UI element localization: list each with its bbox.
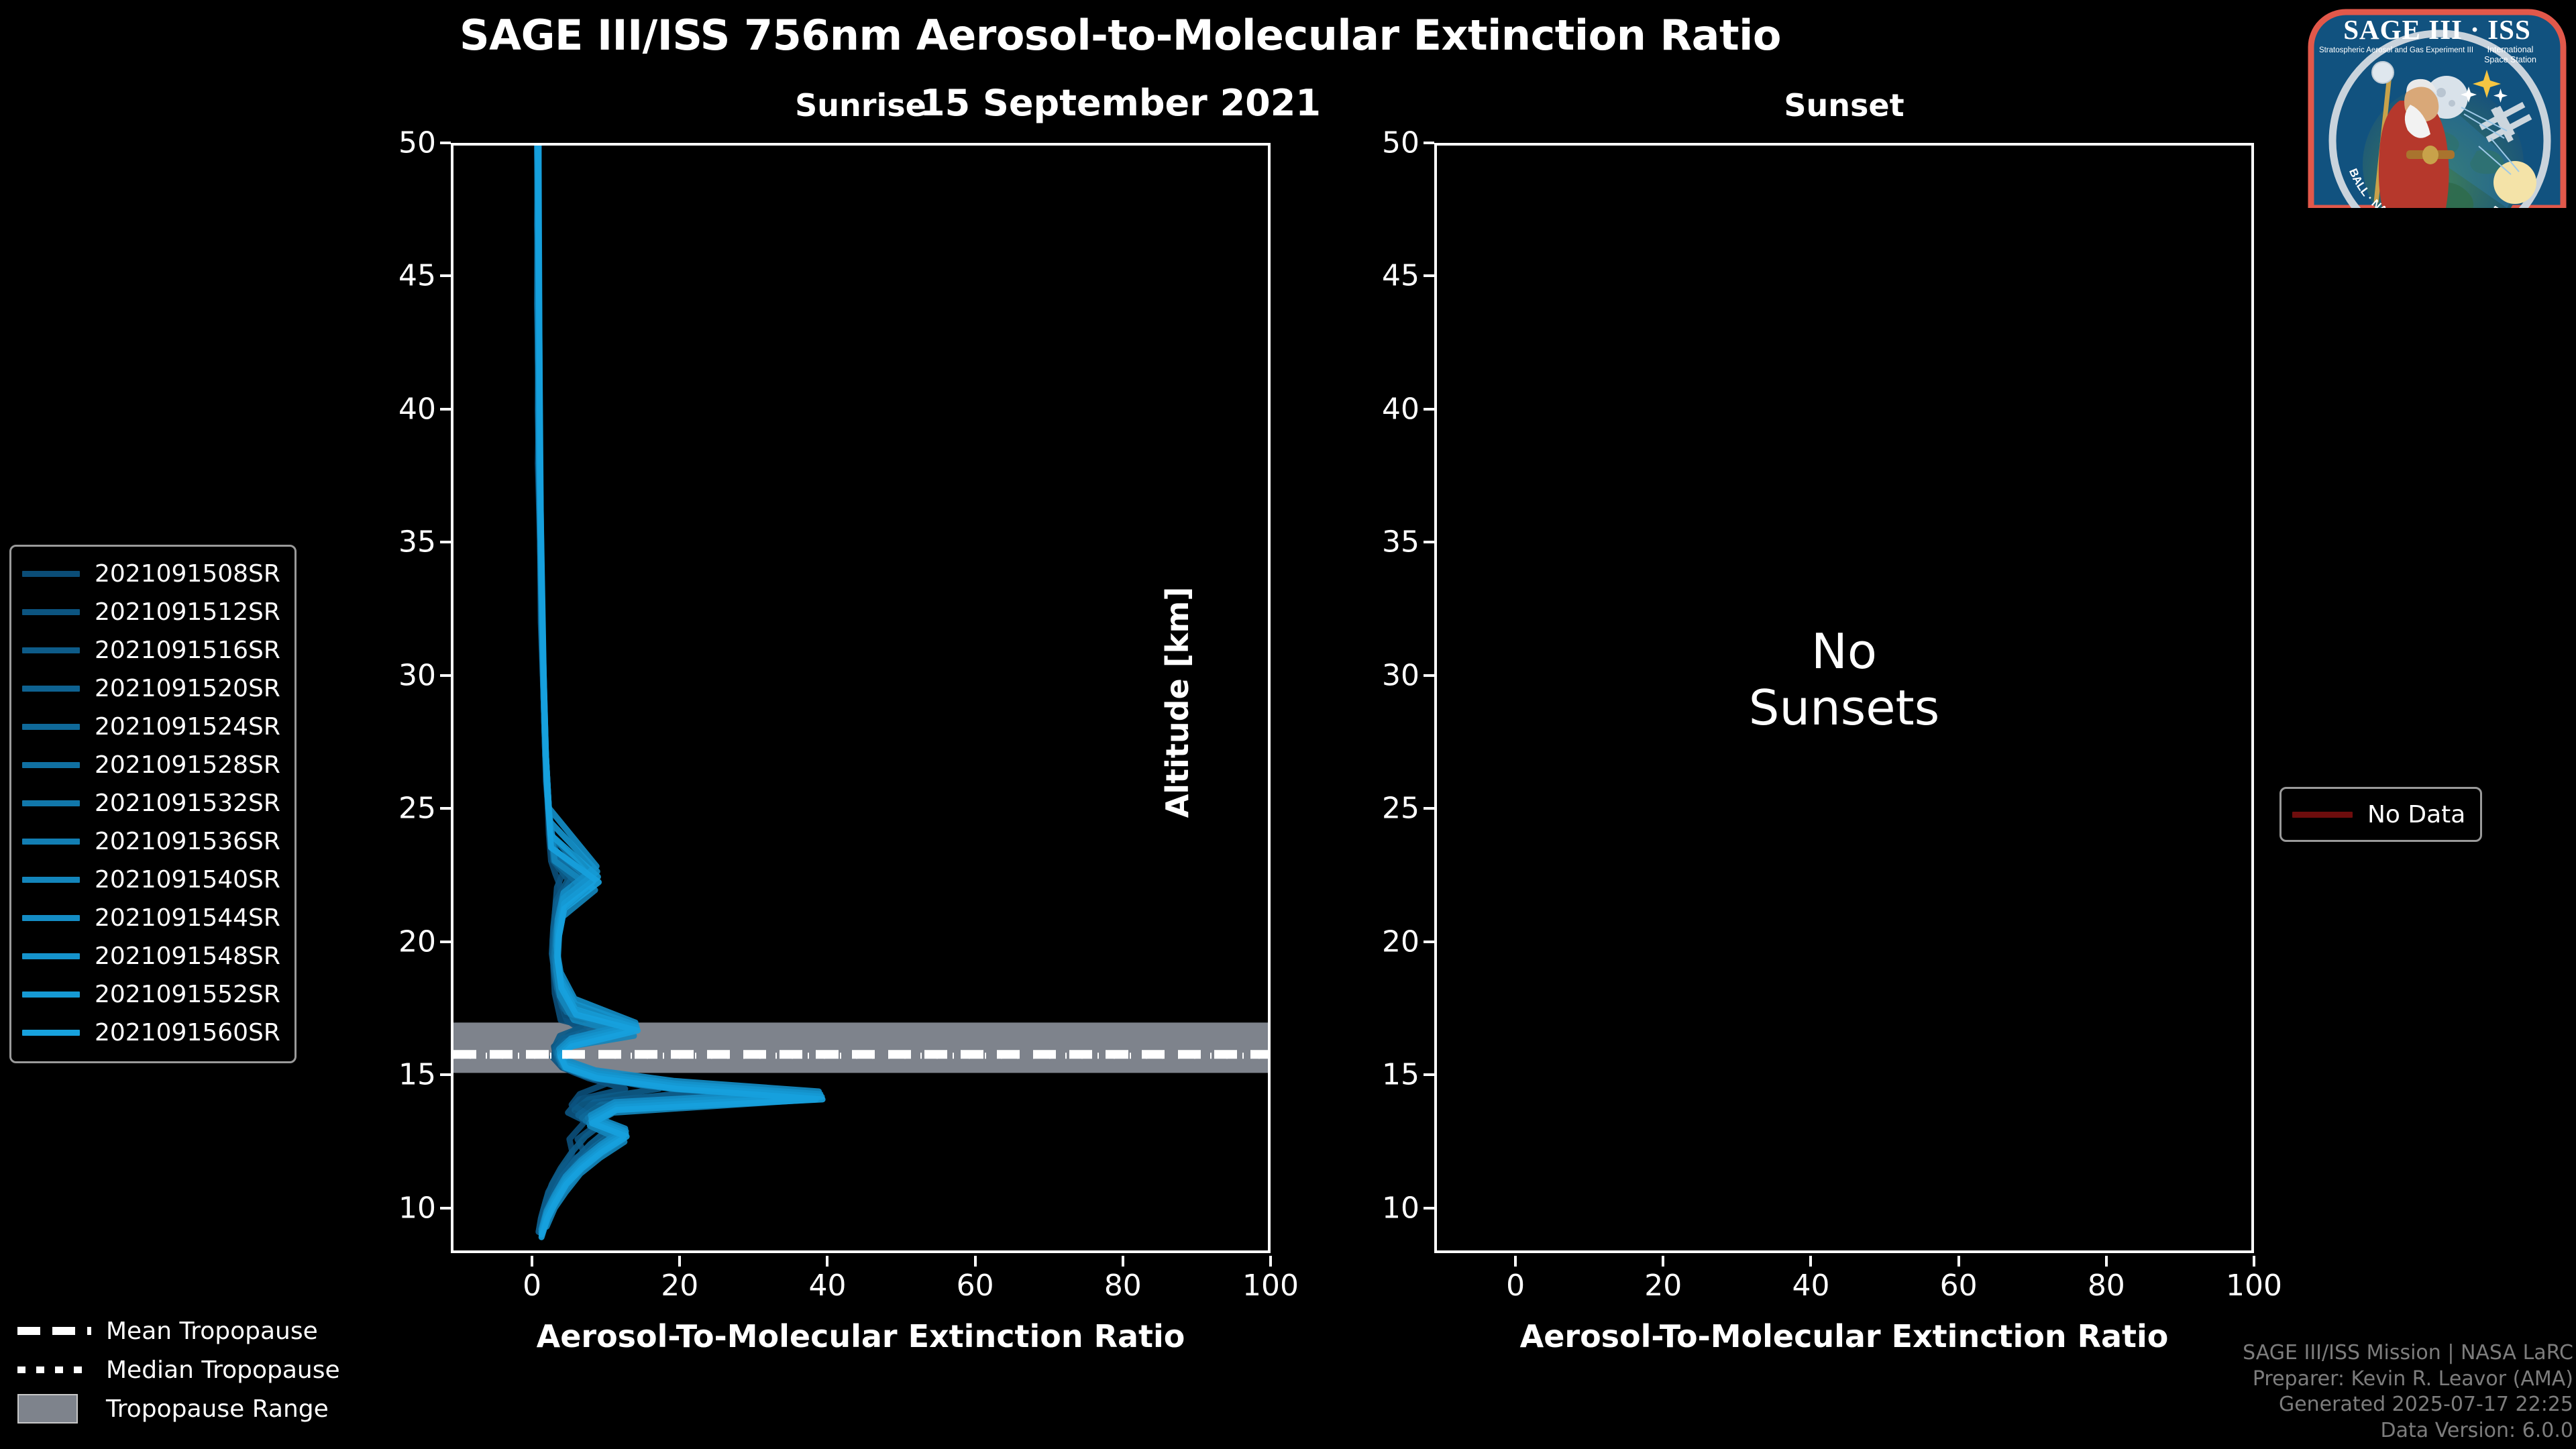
series-legend[interactable]: 2021091508SR2021091512SR2021091516SR2021… [9, 545, 297, 1063]
legend-row: 2021091560SR [22, 1014, 284, 1052]
series-line-swatch [22, 762, 80, 768]
legend-row: 2021091536SR [22, 822, 284, 861]
no-data-legend-label: No Data [2367, 801, 2465, 828]
series-legend-label: 2021091512SR [95, 598, 280, 626]
legend-row: 2021091508SR [22, 555, 284, 593]
footer-line-generated: Generated 2025-07-17 22:25 [2243, 1392, 2573, 1417]
legend-row: 2021091516SR [22, 631, 284, 669]
x-axis-tick-label: 0 [523, 1269, 541, 1303]
series-line-swatch [22, 1030, 80, 1036]
sunset-panel-title: Sunset [1434, 87, 2254, 123]
legend-row: 2021091512SR [22, 593, 284, 631]
y-axis-tick-mark [1424, 142, 1434, 144]
series-line-swatch [22, 915, 80, 921]
x-axis-tick-mark [2253, 1256, 2255, 1267]
series-line-swatch [22, 839, 80, 845]
series-legend-label: 2021091536SR [95, 828, 280, 855]
x-axis-tick-label: 60 [1940, 1269, 1978, 1303]
legend-row-median-tropopause: Median Tropopause [17, 1350, 433, 1389]
legend-row: 2021091520SR [22, 669, 284, 708]
no-sunsets-line2: Sunsets [1434, 680, 2254, 737]
x-axis-tick-label: 40 [808, 1269, 846, 1303]
legend-row-tropopause-range: Tropopause Range [17, 1389, 433, 1428]
sunrise-y-axis-ticks: 101520253035404550 [335, 143, 451, 1253]
median-tropopause-label: Median Tropopause [106, 1356, 340, 1384]
legend-row: 2021091528SR [22, 746, 284, 784]
series-line-swatch [22, 724, 80, 730]
x-axis-tick-mark [1662, 1256, 1664, 1267]
x-axis-tick-label: 40 [1792, 1269, 1829, 1303]
tropopause-range-label: Tropopause Range [106, 1395, 329, 1423]
y-axis-tick-mark [440, 1207, 451, 1210]
legend-row: 2021091552SR [22, 975, 284, 1014]
footer-line-preparer: Preparer: Kevin R. Leavor (AMA) [2243, 1366, 2573, 1392]
series-legend-label: 2021091532SR [95, 790, 280, 817]
series-legend-label: 2021091528SR [95, 751, 280, 779]
logo-subtitle-right-1: International [2487, 45, 2534, 54]
series-line-swatch [22, 991, 80, 998]
x-axis-tick-mark [1957, 1256, 1960, 1267]
no-sunsets-line1: No [1434, 624, 2254, 680]
x-axis-tick-mark [826, 1256, 828, 1267]
x-axis-tick-label: 20 [661, 1269, 698, 1303]
sunrise-plot-svg [453, 146, 1268, 1250]
y-axis-tick-mark [1424, 1207, 1434, 1210]
series-legend-label: 2021091508SR [95, 560, 280, 588]
x-axis-tick-mark [1269, 1256, 1272, 1267]
logo-title-text: SAGE III · ISS [2343, 14, 2531, 45]
y-axis-tick-mark [1424, 1073, 1434, 1076]
sunrise-panel-title: Sunrise [451, 87, 1271, 123]
legend-row: 2021091540SR [22, 861, 284, 899]
y-axis-tick-mark [1424, 408, 1434, 411]
x-axis-tick-mark [974, 1256, 977, 1267]
legend-row: No Data [2292, 797, 2465, 832]
y-axis-tick-mark [440, 274, 451, 277]
y-axis-tick-mark [440, 941, 451, 943]
no-data-line-swatch [2292, 812, 2353, 818]
footer-credits: SAGE III/ISS Mission | NASA LaRC Prepare… [2243, 1340, 2573, 1444]
footer-line-mission: SAGE III/ISS Mission | NASA LaRC [2243, 1340, 2573, 1366]
y-axis-tick-mark [440, 1073, 451, 1076]
tropopause-range-patch-icon [17, 1394, 91, 1424]
series-legend-label: 2021091544SR [95, 904, 280, 932]
legend-row: 2021091524SR [22, 708, 284, 746]
y-axis-tick-mark [1424, 807, 1434, 810]
series-legend-label: 2021091560SR [95, 1019, 280, 1046]
x-axis-tick-label: 80 [1104, 1269, 1142, 1303]
x-axis-tick-mark [1514, 1256, 1517, 1267]
logo-subtitle-right-2: Space Station [2484, 55, 2536, 64]
no-sunsets-message: No Sunsets [1434, 624, 2254, 736]
x-axis-tick-label: 0 [1506, 1269, 1525, 1303]
x-axis-tick-label: 60 [957, 1269, 994, 1303]
series-line-swatch [22, 800, 80, 806]
sage-iii-iss-logo: BALL · NASA · LaRC · TAS-I · ESA SAGE II… [2306, 7, 2569, 208]
x-axis-tick-mark [1809, 1256, 1812, 1267]
x-axis-tick-label: 100 [2226, 1269, 2282, 1303]
page-title: SAGE III/ISS 756nm Aerosol-to-Molecular … [0, 13, 2241, 57]
series-legend-label: 2021091548SR [95, 943, 280, 970]
sage-iii-iss-logo-svg: BALL · NASA · LaRC · TAS-I · ESA SAGE II… [2306, 7, 2569, 208]
tropopause-legend[interactable]: Mean Tropopause Median Tropopause Tropop… [17, 1311, 433, 1428]
median-tropopause-dot-icon [17, 1366, 91, 1373]
x-axis-tick-label: 20 [1644, 1269, 1682, 1303]
mean-tropopause-label: Mean Tropopause [106, 1318, 318, 1345]
series-legend-label: 2021091516SR [95, 637, 280, 664]
sunset-y-axis-ticks: 101520253035404550 [1319, 143, 1434, 1253]
series-legend-label: 2021091552SR [95, 981, 280, 1008]
series-line-swatch [22, 647, 80, 653]
x-axis-tick-mark [1122, 1256, 1124, 1267]
x-axis-tick-mark [2105, 1256, 2108, 1267]
y-axis-tick-mark [440, 674, 451, 677]
footer-line-data-version: Data Version: 6.0.0 [2243, 1418, 2573, 1444]
x-axis-tick-mark [678, 1256, 681, 1267]
series-legend-label: 2021091520SR [95, 675, 280, 702]
sunset-y-axis-label: Altitude [km] [1159, 468, 1195, 937]
series-line-swatch [22, 571, 80, 577]
sunset-x-axis-ticks: 020406080100 [1434, 1256, 2254, 1303]
sunset-x-axis-label: Aerosol-To-Molecular Extinction Ratio [1434, 1318, 2254, 1354]
profile-line [538, 146, 822, 1237]
y-axis-tick-mark [1424, 274, 1434, 277]
legend-row-mean-tropopause: Mean Tropopause [17, 1311, 433, 1350]
y-axis-tick-mark [1424, 541, 1434, 543]
legend-row: 2021091548SR [22, 937, 284, 975]
sunrise-plot-area[interactable] [451, 143, 1271, 1253]
x-axis-tick-label: 80 [2088, 1269, 2125, 1303]
logo-subtitle-left: Stratospheric Aerosol and Gas Experiment… [2319, 46, 2473, 54]
series-legend-label: 2021091524SR [95, 713, 280, 741]
sunrise-x-axis-label: Aerosol-To-Molecular Extinction Ratio [451, 1318, 1271, 1354]
mean-tropopause-dash-icon [17, 1327, 91, 1335]
y-axis-tick-mark [440, 541, 451, 543]
y-axis-tick-mark [440, 807, 451, 810]
series-line-swatch [22, 609, 80, 615]
legend-row: 2021091544SR [22, 899, 284, 937]
legend-row: 2021091532SR [22, 784, 284, 822]
y-axis-tick-mark [440, 142, 451, 144]
y-axis-tick-mark [440, 408, 451, 411]
y-axis-tick-mark [1424, 674, 1434, 677]
series-legend-label: 2021091540SR [95, 866, 280, 894]
series-line-swatch [22, 953, 80, 959]
no-data-legend[interactable]: No Data [2279, 787, 2482, 842]
y-axis-tick-mark [1424, 941, 1434, 943]
x-axis-tick-mark [531, 1256, 533, 1267]
sunrise-x-axis-ticks: 020406080100 [451, 1256, 1271, 1303]
series-line-swatch [22, 686, 80, 692]
series-line-swatch [22, 877, 80, 883]
x-axis-tick-label: 100 [1242, 1269, 1299, 1303]
